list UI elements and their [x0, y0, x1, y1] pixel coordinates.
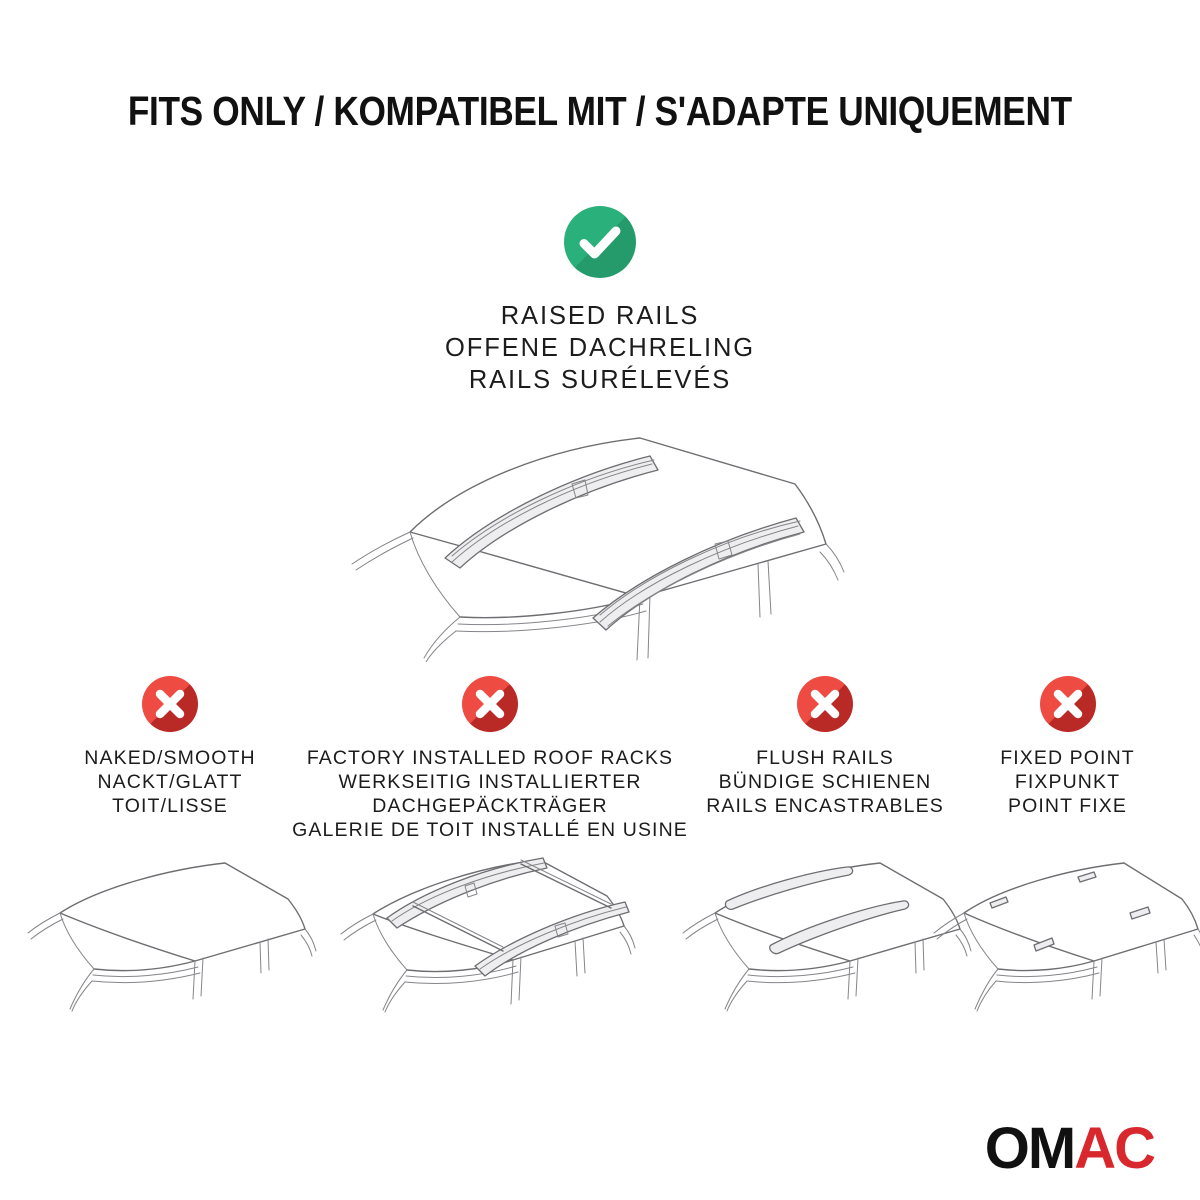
compatible-section: RAISED RAILS OFFENE DACHRELING RAILS SUR…	[0, 206, 1200, 662]
page-title: FITS ONLY / KOMPATIBEL MIT / S'ADAPTE UN…	[0, 88, 1200, 135]
label-en: NAKED/SMOOTH	[84, 746, 255, 770]
incompatible-item-factory-racks: FACTORY INSTALLED ROOF RACKS WERKSEITIG …	[310, 676, 670, 842]
x-circle-icon	[1040, 676, 1096, 732]
label-de: NACKT/GLATT	[84, 770, 255, 794]
label-de: FIXPUNKT	[1000, 770, 1135, 794]
page-title-text: FITS ONLY / KOMPATIBEL MIT / S'ADAPTE UN…	[128, 88, 1072, 135]
compatible-label-fr: RAILS SURÉLEVÉS	[445, 364, 755, 396]
logo-text-dark: OM	[985, 1120, 1074, 1178]
label-de-1: WERKSEITIG INSTALLIERTER	[292, 770, 688, 794]
incompatible-item-flush-rails: FLUSH RAILS BÜNDIGE SCHIENEN RAILS ENCAS…	[690, 676, 960, 818]
label-fr: POINT FIXE	[1000, 794, 1135, 818]
label-en: FLUSH RAILS	[706, 746, 944, 770]
incompatible-labels: FIXED POINT FIXPUNKT POINT FIXE	[1000, 746, 1135, 818]
label-de: BÜNDIGE SCHIENEN	[706, 770, 944, 794]
incompatible-item-naked-smooth: NAKED/SMOOTH NACKT/GLATT TOIT/LISSE	[40, 676, 300, 818]
omac-logo: OMAC	[985, 1120, 1154, 1178]
label-de-2: DACHGEPÄCKTRÄGER	[292, 794, 688, 818]
logo-text-red: AC	[1074, 1120, 1154, 1178]
label-en: FIXED POINT	[1000, 746, 1135, 770]
compatible-label-de: OFFENE DACHRELING	[445, 332, 755, 364]
car-roof-raised-rails-illustration	[340, 412, 860, 662]
x-circle-icon	[142, 676, 198, 732]
car-roof-factory-racks-illustration	[325, 836, 655, 1031]
car-roof-fixed-point-illustration	[928, 851, 1200, 1031]
car-roof-naked-smooth-illustration	[20, 851, 320, 1031]
label-fr: TOIT/LISSE	[84, 794, 255, 818]
compatible-labels: RAISED RAILS OFFENE DACHRELING RAILS SUR…	[445, 300, 755, 396]
label-fr: RAILS ENCASTRABLES	[706, 794, 944, 818]
x-circle-icon	[462, 676, 518, 732]
x-circle-icon	[797, 676, 853, 732]
incompatible-labels: FLUSH RAILS BÜNDIGE SCHIENEN RAILS ENCAS…	[706, 746, 944, 818]
incompatible-item-fixed-point: FIXED POINT FIXPUNKT POINT FIXE	[965, 676, 1170, 818]
incompatible-labels: FACTORY INSTALLED ROOF RACKS WERKSEITIG …	[292, 746, 688, 842]
incompatible-labels: NAKED/SMOOTH NACKT/GLATT TOIT/LISSE	[84, 746, 255, 818]
compatible-label-en: RAISED RAILS	[445, 300, 755, 332]
incompatible-section: NAKED/SMOOTH NACKT/GLATT TOIT/LISSE	[0, 676, 1200, 1186]
check-circle-icon	[564, 206, 636, 278]
label-en: FACTORY INSTALLED ROOF RACKS	[292, 746, 688, 770]
